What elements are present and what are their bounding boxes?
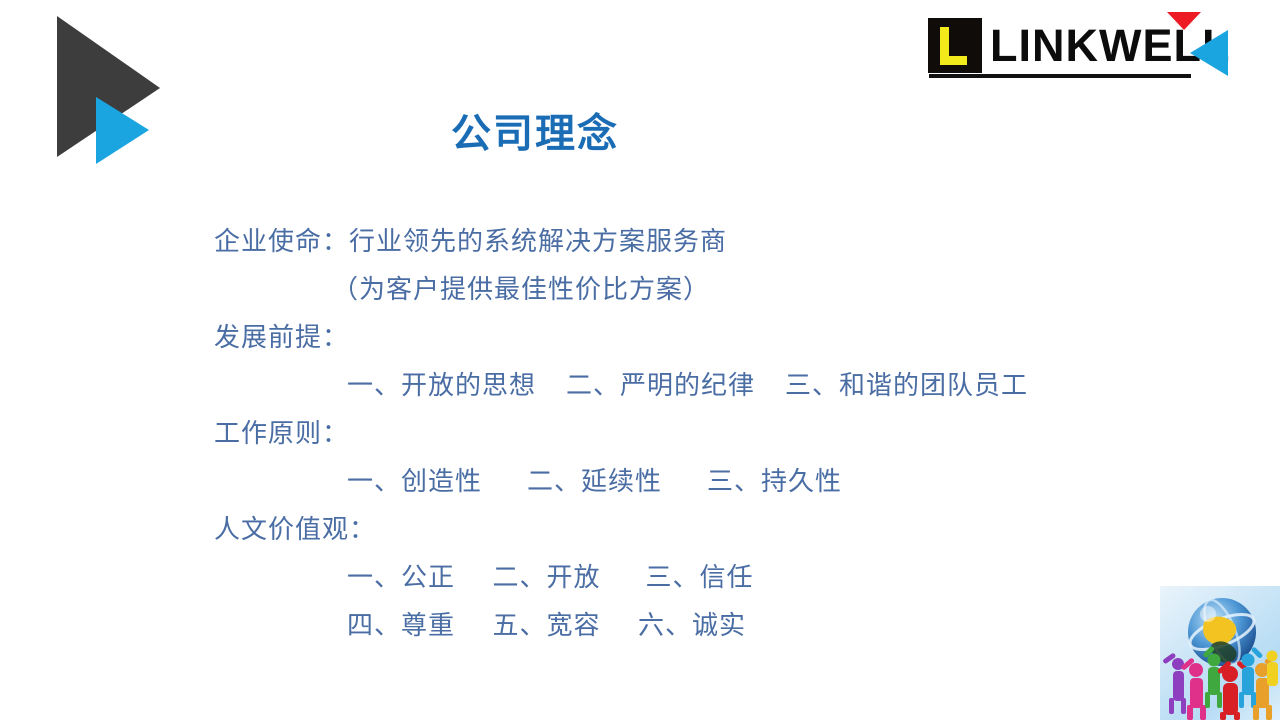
content-line-values-items-1: 一、公正 二、开放 三、信任 bbox=[214, 554, 1074, 602]
content-line-values-label: 人文价值观： bbox=[214, 506, 1074, 554]
globe-with-people-image bbox=[1160, 586, 1280, 720]
slide-canvas: LINKWELL 公司理念 企业使命：行业领先的系统解决方案服务商 （为客户提供… bbox=[0, 0, 1280, 720]
content-line-premise-items: 一、开放的思想 二、严明的纪律 三、和谐的团队员工 bbox=[214, 362, 1074, 410]
content-line-premise-label: 发展前提： bbox=[214, 314, 1074, 362]
content-line-mission-sub: （为客户提供最佳性价比方案） bbox=[214, 266, 1074, 314]
logo-badge-letter-l-icon bbox=[940, 27, 967, 65]
content-body: 企业使命：行业领先的系统解决方案服务商 （为客户提供最佳性价比方案） 发展前提：… bbox=[214, 218, 1074, 650]
logo-blue-triangle-icon bbox=[1190, 30, 1228, 76]
content-line-principle-items: 一、创造性 二、延续性 三、持久性 bbox=[214, 458, 1074, 506]
content-line-mission: 企业使命：行业领先的系统解决方案服务商 bbox=[214, 218, 1074, 266]
page-title: 公司理念 bbox=[0, 108, 1070, 160]
logo-red-triangle-icon bbox=[1167, 12, 1201, 30]
content-line-values-items-2: 四、尊重 五、宽容 六、诚实 bbox=[214, 602, 1074, 650]
logo-underline-rule bbox=[929, 74, 1191, 78]
logo-badge-square bbox=[928, 18, 982, 73]
content-line-principle-label: 工作原则： bbox=[214, 410, 1074, 458]
decorative-arrow-mark bbox=[0, 0, 210, 200]
